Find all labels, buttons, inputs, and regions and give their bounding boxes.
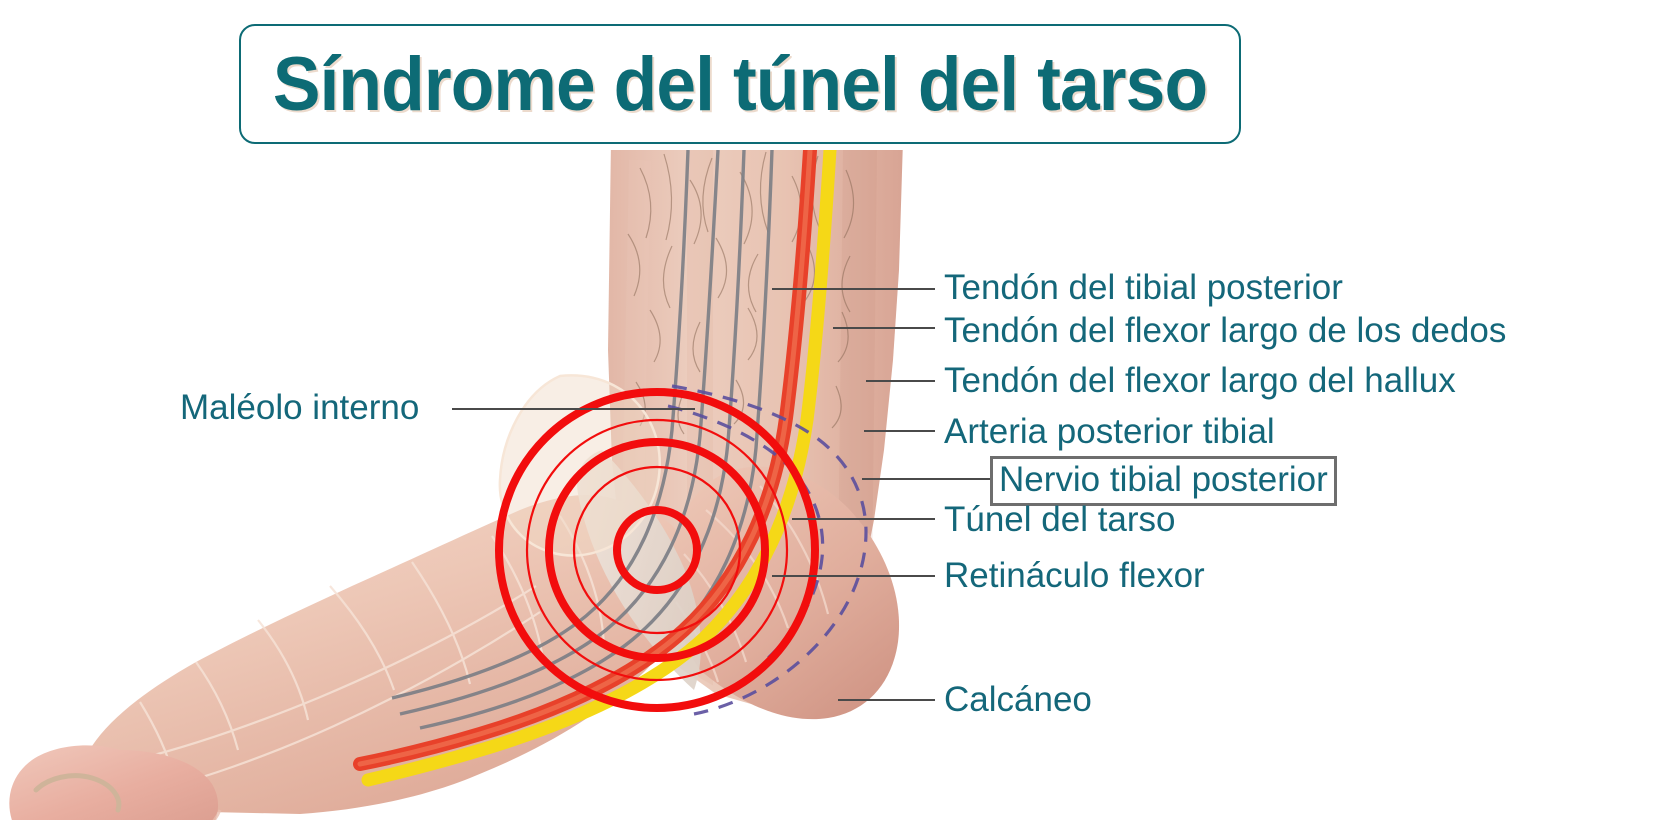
label-tendon-tibial-posterior[interactable]: Tendón del tibial posterior (944, 268, 1343, 308)
leader-line-tunel-del-tarso (792, 518, 935, 520)
leader-line-nervio-tibial-posterior (862, 478, 990, 480)
label-tendon-flexor-largo-dedos[interactable]: Tendón del flexor largo de los dedos (944, 311, 1506, 351)
page-title: Síndrome del túnel del tarso (273, 41, 1207, 128)
leader-line-tendon-flexor-largo-dedos (833, 327, 935, 329)
label-arteria-posterior-tibial[interactable]: Arteria posterior tibial (944, 412, 1275, 452)
leader-line-maleolo-interno (452, 408, 695, 410)
label-retinaculo-flexor[interactable]: Retináculo flexor (944, 556, 1205, 596)
diagram-page: Síndrome del túnel del tarso (0, 0, 1654, 820)
label-nervio-tibial-posterior[interactable]: Nervio tibial posterior (990, 456, 1337, 506)
label-calcaneo[interactable]: Calcáneo (944, 680, 1092, 720)
foot-illustration-svg (0, 150, 960, 820)
leader-line-calcaneo (838, 699, 935, 701)
label-tendon-flexor-largo-hallux[interactable]: Tendón del flexor largo del hallux (944, 361, 1456, 401)
foot-anatomy-illustration (0, 150, 960, 820)
title-box: Síndrome del túnel del tarso (239, 24, 1241, 144)
label-tunel-del-tarso[interactable]: Túnel del tarso (944, 500, 1176, 540)
leader-line-arteria-posterior-tibial (864, 430, 935, 432)
leader-line-tendon-tibial-posterior (772, 288, 935, 290)
leader-line-retinaculo-flexor (772, 575, 935, 577)
label-maleolo-interno[interactable]: Maléolo interno (180, 388, 419, 428)
leader-line-tendon-flexor-largo-hallux (866, 380, 935, 382)
